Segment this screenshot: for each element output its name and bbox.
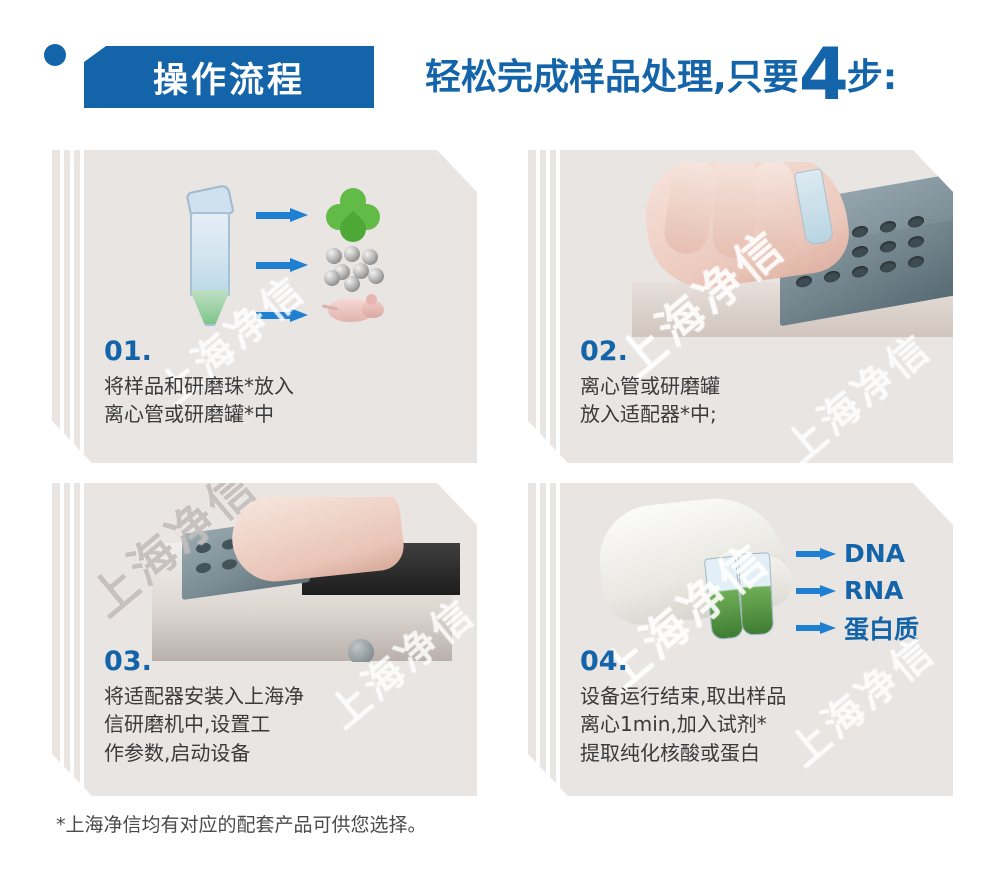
leaf-icon (326, 188, 384, 240)
step-card-3: 上海净信 上海净信 03. 将适配器安装入上海净 信研磨机中,设置工 作参数,启… (52, 483, 477, 796)
output-label: 蛋白质 (844, 610, 919, 646)
step-text: 离心管或研磨罐 放入适配器*中; (580, 372, 939, 429)
card-body: 上海净信 01. 将样品和研磨珠*放入 离心管或研磨罐*中 (86, 150, 477, 463)
footnote: *上海净信均有对应的配套产品可供您选择。 (56, 810, 427, 837)
card-stripes (528, 483, 562, 796)
grinding-beads-icon (324, 246, 386, 290)
card-stripes (52, 483, 86, 796)
arrow-icon (256, 258, 310, 272)
step-number: 02. (580, 336, 628, 367)
arrow-icon (796, 548, 838, 560)
output-labels: DNA RNA 蛋白质 (796, 535, 946, 646)
section-badge-label: 操作流程 (153, 52, 305, 103)
card-stripes (528, 150, 562, 463)
card-body: DNA RNA 蛋白质 上海净信 上海净信 04. 设备运行结束,取出样品 离心… (562, 483, 953, 796)
headline-main: 轻松完成样品处理,只要 (425, 60, 799, 105)
step-text: 将适配器安装入上海净 信研磨机中,设置工 作参数,启动设备 (104, 682, 463, 767)
mouse-icon (322, 292, 388, 326)
card-stripes (52, 150, 86, 463)
step-card-4: DNA RNA 蛋白质 上海净信 上海净信 04. 设备运行结束,取出样品 离心… (528, 483, 953, 796)
output-label: DNA (844, 539, 905, 568)
section-badge: 操作流程 (84, 46, 374, 108)
card-body: 上海净信 上海净信 02. 离心管或研磨罐 放入适配器*中; (562, 150, 953, 463)
step-photo (144, 497, 474, 662)
arrow-icon (796, 585, 838, 597)
step-number: 04. (580, 646, 628, 677)
headline-number: 4 (799, 44, 847, 105)
arrow-icon (256, 208, 310, 222)
decorative-dot (44, 44, 66, 66)
step-number: 01. (104, 336, 152, 367)
sample-vial (738, 552, 774, 636)
step-text: 设备运行结束,取出样品 离心1min,加入试剂* 提取纯化核酸或蛋白 (580, 682, 939, 767)
arrow-icon (796, 622, 838, 634)
page-header: 操作流程 轻松完成样品处理,只要 4 步: (0, 0, 1000, 135)
step-card-1: 上海净信 01. 将样品和研磨珠*放入 离心管或研磨罐*中 (52, 150, 477, 463)
output-label: RNA (844, 576, 904, 605)
arrow-icon (256, 308, 310, 322)
output-row: 蛋白质 (796, 609, 946, 646)
step-card-2: 上海净信 上海净信 02. 离心管或研磨罐 放入适配器*中; (528, 150, 953, 463)
step-photo: DNA RNA 蛋白质 (590, 497, 950, 667)
headline: 轻松完成样品处理,只要 4 步: (425, 44, 897, 105)
headline-tail: 步: (847, 60, 897, 105)
step-number: 03. (104, 646, 152, 677)
step-text: 将样品和研磨珠*放入 离心管或研磨罐*中 (104, 372, 463, 429)
page-root: 操作流程 轻松完成样品处理,只要 4 步: 上海 (0, 0, 1000, 875)
card-body: 上海净信 上海净信 03. 将适配器安装入上海净 信研磨机中,设置工 作参数,启… (86, 483, 477, 796)
centrifuge-tube-icon (186, 188, 230, 318)
step-photo (632, 162, 953, 337)
output-row: DNA (796, 535, 946, 572)
output-row: RNA (796, 572, 946, 609)
